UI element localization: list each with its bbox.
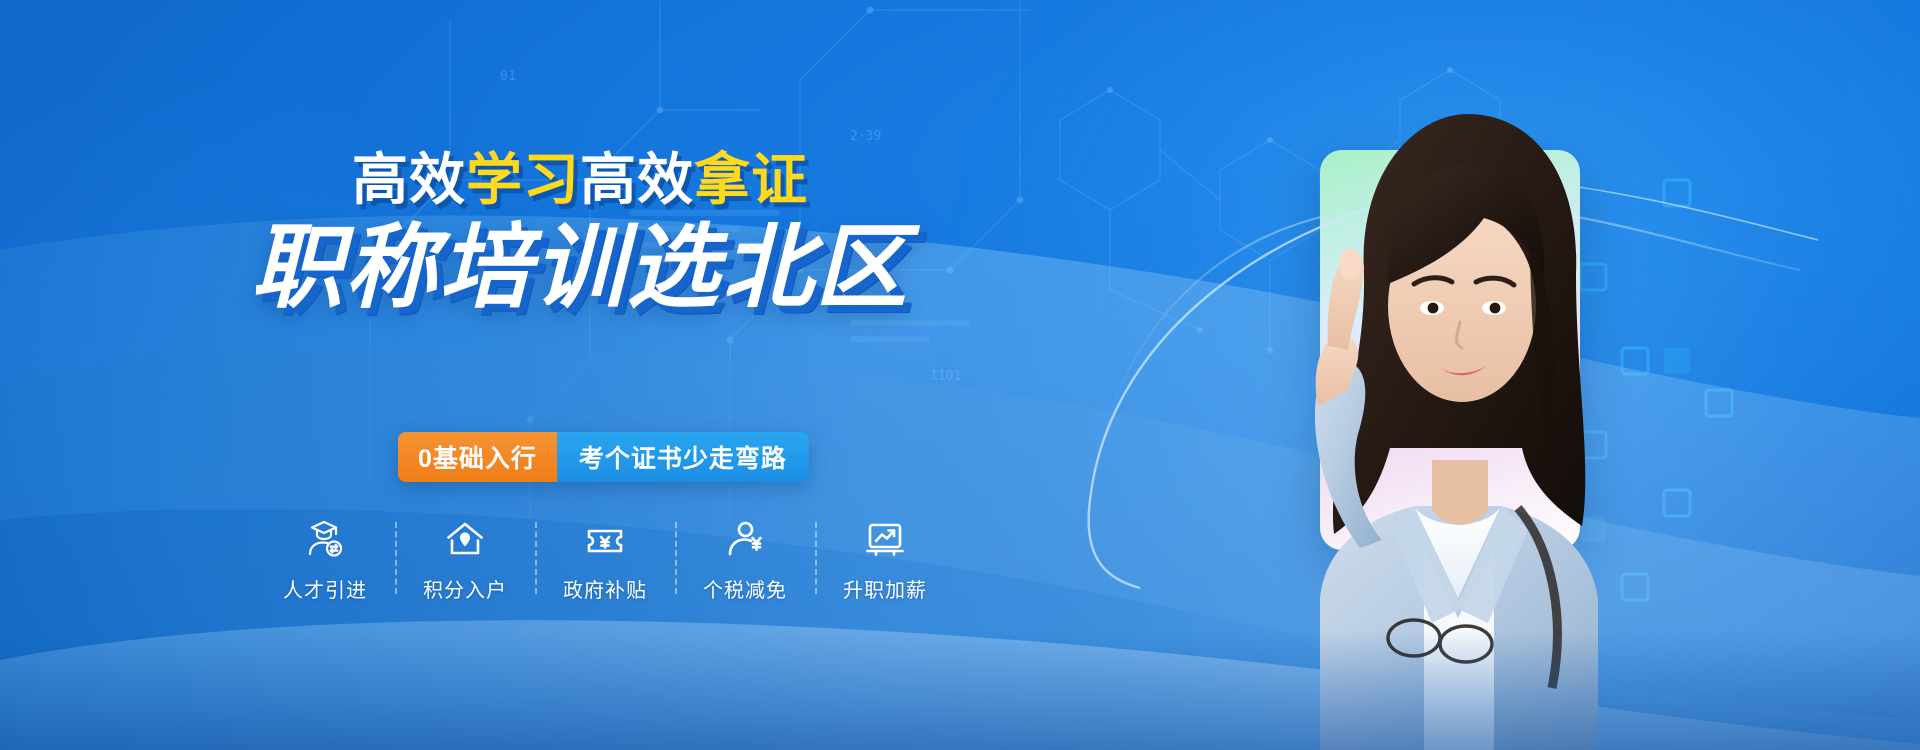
pointing-woman-photo — [1200, 78, 1670, 750]
subject-composition — [1160, 0, 1800, 750]
tagline-badge: 0基础入行 考个证书少走弯路 — [398, 432, 809, 482]
person-yuan-icon — [724, 518, 766, 560]
feature-item-promotion: 升职加薪 — [815, 518, 955, 603]
headline-main-a: 职称培训 — [251, 217, 627, 319]
headline-main-c: 北区 — [721, 217, 909, 319]
badge-left-segment: 0基础入行 — [398, 432, 557, 482]
feature-item-subsidy: 政府补贴 — [535, 518, 675, 603]
feature-label: 升职加薪 — [843, 574, 927, 603]
feature-list: 人才引进 积分入户 — [255, 518, 955, 628]
feature-label: 政府补贴 — [563, 574, 647, 603]
headline-seg-2: 学习 — [466, 148, 580, 211]
promo-banner: 2·39 01 1101 — [0, 0, 1920, 750]
badge-right-segment: 考个证书少走弯路 — [557, 432, 809, 482]
graduate-exchange-icon — [304, 518, 346, 560]
headline-seg-1: 高效 — [352, 148, 466, 211]
feature-item-talent: 人才引进 — [255, 518, 395, 603]
house-pin-icon — [444, 518, 486, 560]
headline-seg-4: 拿证 — [694, 148, 808, 211]
headline-seg-3: 高效 — [580, 148, 694, 211]
feature-label: 人才引进 — [283, 574, 367, 603]
feature-label: 个税减免 — [703, 574, 787, 603]
growth-chart-icon — [864, 518, 906, 560]
feature-label: 积分入户 — [423, 574, 507, 603]
headline-accent-char: 选 — [627, 222, 721, 314]
headline-main-b: 选 — [627, 217, 721, 319]
headline-line-1: 高效学习高效拿证 — [0, 152, 1160, 208]
headline-line-2: 职称培训选北区 — [0, 222, 1160, 314]
feature-item-tax: 个税减免 — [675, 518, 815, 603]
yuan-ticket-icon — [584, 518, 626, 560]
copy-block: 高效学习高效拿证 职称培训选北区 0基础入行 考个证书少走弯路 — [0, 0, 1160, 750]
feature-item-residency: 积分入户 — [395, 518, 535, 603]
